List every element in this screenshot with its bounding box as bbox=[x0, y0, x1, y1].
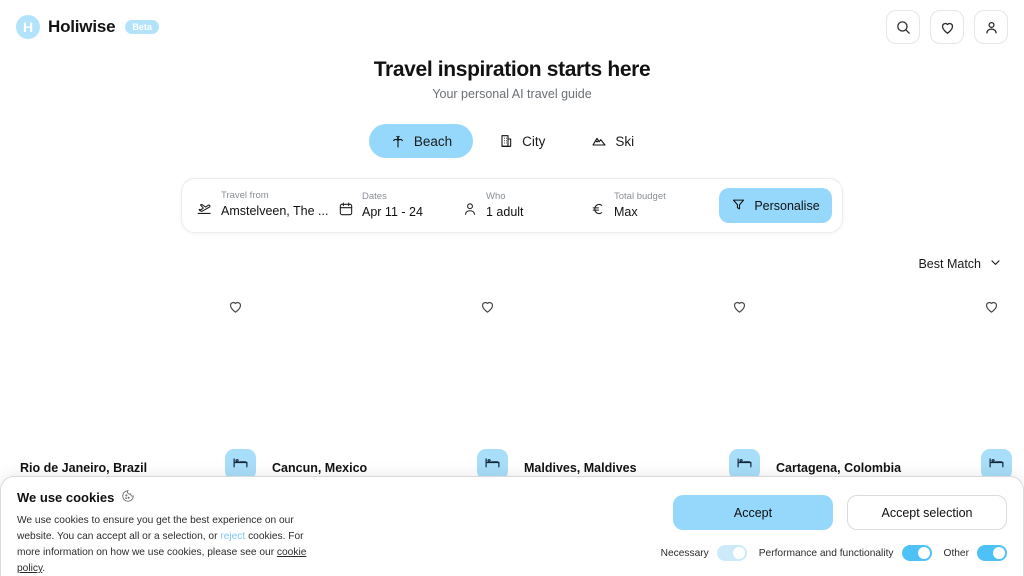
card-image bbox=[776, 288, 1012, 458]
cookie-controls: Accept Accept selection Necessary Perfor… bbox=[661, 489, 1007, 561]
search-icon bbox=[895, 19, 912, 36]
page-subtitle: Your personal AI travel guide bbox=[0, 87, 1024, 101]
card-title: Cancun, Mexico bbox=[272, 461, 367, 476]
budget-label: Total budget bbox=[614, 190, 666, 204]
heart-icon bbox=[939, 19, 956, 36]
travel-from-field[interactable]: Travel from Amstelveen, The ... bbox=[196, 189, 338, 222]
dates-field[interactable]: Dates Apr 11 - 24 bbox=[338, 190, 462, 222]
cookie-title-label: We use cookies bbox=[17, 490, 114, 505]
destination-carousel[interactable]: Rio de Janeiro, Brazil Cancun, Mexic bbox=[0, 288, 1024, 488]
category-tabs: Beach City Ski bbox=[0, 124, 1024, 158]
plane-takeoff-icon bbox=[196, 200, 213, 222]
search-button[interactable] bbox=[886, 10, 920, 44]
page-title: Travel inspiration starts here bbox=[0, 58, 1024, 82]
sort-label: Best Match bbox=[918, 257, 981, 271]
beta-badge: Beta bbox=[125, 20, 159, 35]
toggle-performance: Performance and functionality bbox=[759, 545, 932, 561]
card-title: Maldives, Maldives bbox=[524, 461, 637, 476]
card-image bbox=[20, 288, 256, 458]
palm-tree-icon bbox=[390, 133, 406, 149]
destination-card[interactable]: Cartagena, Colombia bbox=[776, 288, 1012, 484]
tab-ski-label: Ski bbox=[615, 134, 634, 149]
cookie-banner-title: We use cookies bbox=[17, 489, 317, 506]
travel-from-label: Travel from bbox=[221, 189, 328, 203]
card-title: Cartagena, Colombia bbox=[776, 461, 901, 476]
chevron-down-icon bbox=[989, 256, 1002, 272]
tab-beach-label: Beach bbox=[414, 134, 452, 149]
bed-icon bbox=[736, 454, 753, 476]
site-header: H Holiwise Beta bbox=[0, 0, 1024, 54]
cookie-toggles: Necessary Performance and functionality … bbox=[661, 545, 1007, 561]
travel-from-value: Amstelveen, The ... bbox=[221, 203, 328, 220]
toggle-performance-switch[interactable] bbox=[902, 545, 932, 561]
bed-icon bbox=[232, 454, 249, 476]
card-title: Rio de Janeiro, Brazil bbox=[20, 461, 147, 476]
toggle-other-switch[interactable] bbox=[977, 545, 1007, 561]
cookie-icon bbox=[121, 489, 135, 506]
bed-icon bbox=[484, 454, 501, 476]
card-favorite-button[interactable] bbox=[224, 295, 246, 317]
euro-icon bbox=[590, 201, 606, 222]
personalise-label: Personalise bbox=[754, 199, 819, 213]
toggle-other-label: Other bbox=[944, 548, 969, 559]
hero-section: Travel inspiration starts here Your pers… bbox=[0, 58, 1024, 101]
toggle-other: Other bbox=[944, 545, 1007, 561]
cookie-banner: We use cookies We use cookies to ensure … bbox=[0, 476, 1024, 576]
cookie-button-group: Accept Accept selection bbox=[673, 495, 1007, 530]
reject-link[interactable]: reject bbox=[220, 531, 245, 542]
sort-dropdown[interactable]: Best Match bbox=[918, 256, 1002, 272]
who-field[interactable]: Who 1 adult bbox=[462, 190, 590, 222]
destination-card[interactable]: Maldives, Maldives bbox=[524, 288, 760, 484]
cookie-banner-body: We use cookies to ensure you get the bes… bbox=[17, 513, 317, 576]
search-bar: Travel from Amstelveen, The ... Dates Ap… bbox=[181, 178, 843, 233]
budget-value: Max bbox=[614, 204, 666, 221]
card-favorite-button[interactable] bbox=[980, 295, 1002, 317]
page-root: H Holiwise Beta bbox=[0, 0, 1024, 576]
dates-label: Dates bbox=[362, 190, 423, 204]
accept-button[interactable]: Accept bbox=[673, 495, 833, 530]
bed-icon bbox=[988, 454, 1005, 476]
cookie-body-part3: . bbox=[42, 563, 45, 574]
personalise-button[interactable]: Personalise bbox=[719, 188, 832, 223]
mountain-icon bbox=[591, 133, 607, 149]
who-value: 1 adult bbox=[486, 204, 524, 221]
toggle-necessary-label: Necessary bbox=[661, 548, 709, 559]
user-icon bbox=[983, 19, 1000, 36]
tab-beach[interactable]: Beach bbox=[369, 124, 473, 158]
card-favorite-button[interactable] bbox=[476, 295, 498, 317]
budget-field[interactable]: Total budget Max bbox=[590, 190, 708, 222]
logo-wordmark: Holiwise bbox=[48, 17, 115, 37]
tab-ski[interactable]: Ski bbox=[570, 124, 655, 158]
calendar-icon bbox=[338, 201, 354, 222]
dates-value: Apr 11 - 24 bbox=[362, 204, 423, 221]
who-label: Who bbox=[486, 190, 524, 204]
card-image bbox=[524, 288, 760, 458]
toggle-performance-label: Performance and functionality bbox=[759, 548, 894, 559]
card-image bbox=[272, 288, 508, 458]
toggle-necessary-switch bbox=[717, 545, 747, 561]
tab-city-label: City bbox=[522, 134, 545, 149]
destination-card[interactable]: Cancun, Mexico bbox=[272, 288, 508, 484]
header-actions bbox=[886, 10, 1008, 44]
brand-logo[interactable]: H Holiwise Beta bbox=[16, 15, 159, 39]
filter-icon bbox=[731, 197, 746, 215]
logo-mark-icon: H bbox=[16, 15, 40, 39]
building-icon bbox=[498, 133, 514, 149]
account-button[interactable] bbox=[974, 10, 1008, 44]
favorites-button[interactable] bbox=[930, 10, 964, 44]
card-favorite-button[interactable] bbox=[728, 295, 750, 317]
accept-selection-button[interactable]: Accept selection bbox=[847, 495, 1007, 530]
sort-bar: Best Match bbox=[0, 256, 1024, 272]
destination-card[interactable]: Rio de Janeiro, Brazil bbox=[20, 288, 256, 484]
toggle-necessary: Necessary bbox=[661, 545, 747, 561]
cookie-text-block: We use cookies We use cookies to ensure … bbox=[17, 489, 317, 576]
tab-city[interactable]: City bbox=[477, 124, 566, 158]
person-icon bbox=[462, 201, 478, 222]
